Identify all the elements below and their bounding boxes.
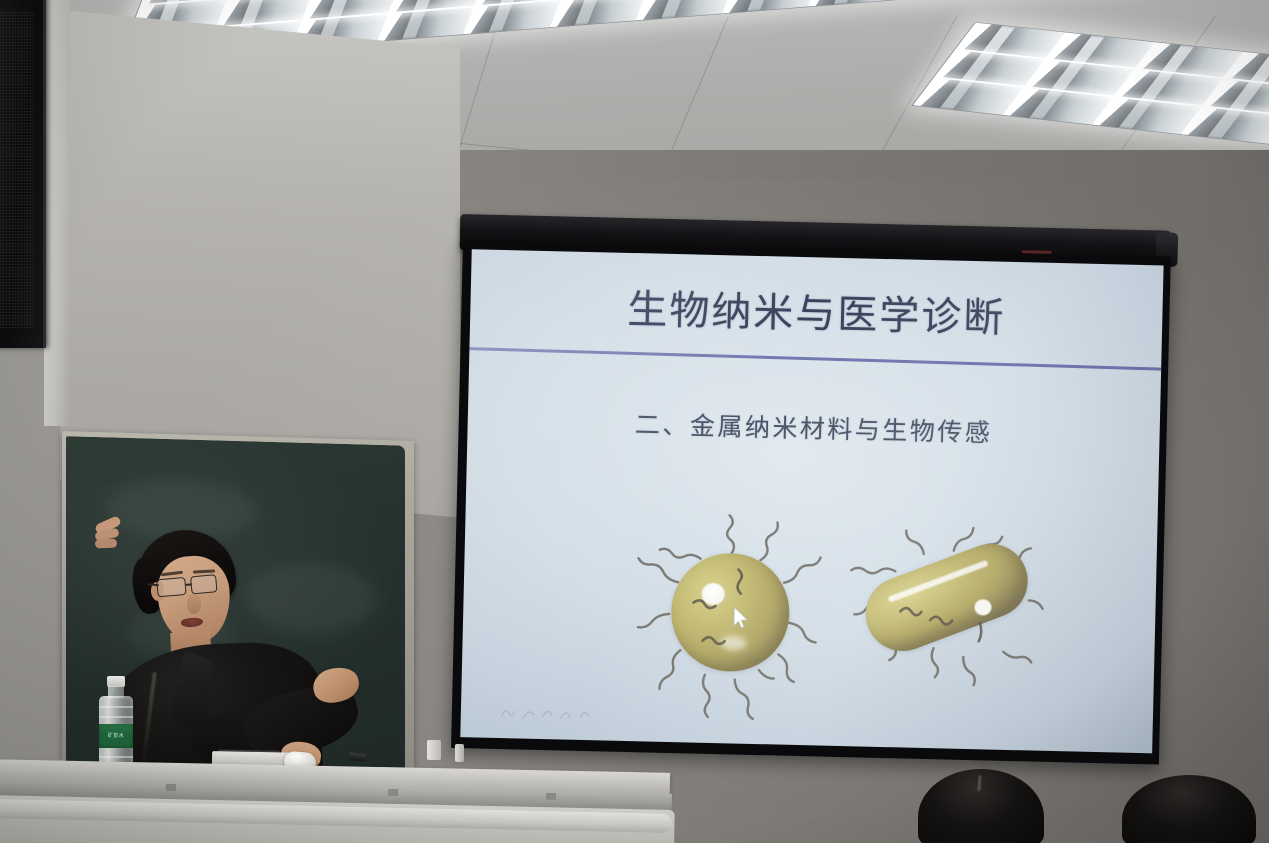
hair-parting [978,775,982,791]
screen-surface: 生物纳米与医学诊断 二、金属纳米材料与生物传感 [460,249,1163,753]
finger [95,539,117,549]
screen-handwriting-marks [499,702,629,727]
wall-pillar [44,0,70,426]
bottle-label-text: 矿泉水 [99,732,133,739]
lens-left [156,577,186,597]
surface-ligand-squiggles [631,521,825,710]
bottle-label: 矿泉水 [99,724,133,748]
lecturer [95,520,385,780]
slide-title: 生物纳米与医学诊断 [470,285,1163,343]
wall-speaker [0,0,46,348]
gold-nanosphere-figure [631,521,825,710]
screen-frame: 生物纳米与医学诊断 二、金属纳米材料与生物传感 [451,240,1171,765]
lectern [0,755,680,843]
surface-ligand-squiggles [836,514,1055,709]
mouse-pointer-icon [733,606,749,629]
slide-subtitle: 二、金属纳米材料与生物传感 [467,401,1160,453]
lens-right [190,574,217,594]
pull-down-projection-screen: 生物纳米与医学诊断 二、金属纳米材料与生物传感 [455,214,1185,759]
gold-nanorod-figure [836,514,1055,709]
lecture-hall-photo: 生物纳米与医学诊断 二、金属纳米材料与生物传感 [0,0,1269,843]
presentation-slide: 生物纳米与医学诊断 二、金属纳米材料与生物传感 [460,249,1163,753]
speaker-grille [0,10,34,328]
title-divider-rule [469,347,1161,371]
